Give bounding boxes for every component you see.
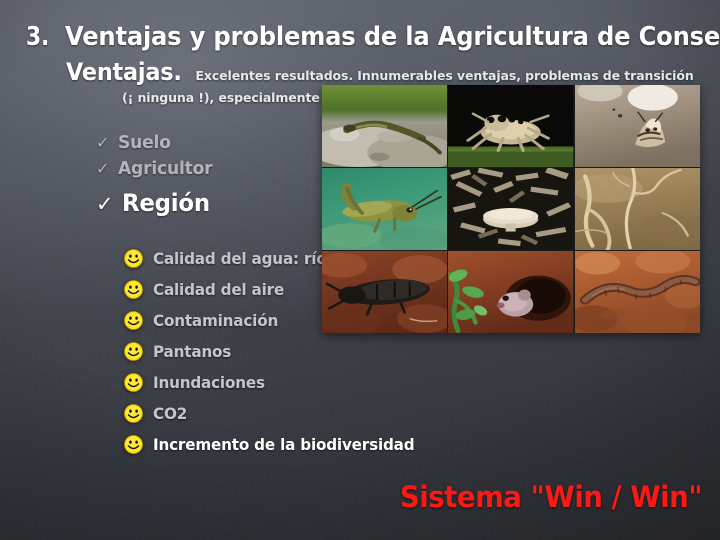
smiley-icon xyxy=(124,373,143,392)
photo-beetle-on-red-soil xyxy=(322,251,447,333)
smiley-icon xyxy=(124,435,143,454)
photo-earthworm-on-soil xyxy=(575,251,700,333)
smiley-label: CO2 xyxy=(153,404,187,423)
page-title: Ventajas y problemas de la Agricultura d… xyxy=(65,22,720,52)
smiley-label: Calidad del aire xyxy=(153,280,284,299)
title-number: 3. xyxy=(26,22,49,52)
footer-slogan: Sistema "Win / Win" xyxy=(400,480,702,514)
list-item-agricultor[interactable]: ✓ Agricultor xyxy=(96,156,218,182)
photo-spider-on-black xyxy=(448,85,573,167)
smiley-label: Calidad del agua: ríos xyxy=(153,249,335,268)
smiley-icon xyxy=(124,342,143,361)
photo-butterfly-on-ground xyxy=(575,85,700,167)
smiley-label: Contaminación xyxy=(153,311,278,330)
list-item-suelo[interactable]: ✓ Suelo xyxy=(96,130,218,156)
photo-collage[interactable] xyxy=(322,85,700,333)
smiley-icon xyxy=(124,249,143,268)
check-label: Región xyxy=(122,187,210,219)
list-item-pantanos[interactable]: Pantanos xyxy=(124,336,428,367)
list-item-inundaciones[interactable]: Inundaciones xyxy=(124,367,428,398)
list-item-biodiversidad[interactable]: Incremento de la biodiversidad xyxy=(124,429,428,460)
smiley-label: Inundaciones xyxy=(153,373,265,392)
photo-mushroom-on-mulch xyxy=(448,168,573,250)
photo-lizard-on-stone xyxy=(322,85,447,167)
subtitle-lead: Ventajas. xyxy=(66,58,182,86)
check-icon: ✓ xyxy=(96,194,113,215)
check-label: Agricultor xyxy=(118,156,212,182)
photo-grasshopper-on-green xyxy=(322,168,447,250)
check-icon: ✓ xyxy=(96,135,109,151)
smiley-icon xyxy=(124,404,143,423)
slide-title-row: 3. Ventajas y problemas de la Agricultur… xyxy=(26,22,706,52)
subtitle-line-1: Excelentes resultados. Innumerables vent… xyxy=(195,68,693,83)
smiley-label: Incremento de la biodiversidad xyxy=(153,435,414,454)
photo-rodent-in-burrow xyxy=(448,251,573,333)
smiley-icon xyxy=(124,280,143,299)
smiley-label: Pantanos xyxy=(153,342,231,361)
smiley-icon xyxy=(124,311,143,330)
check-icon: ✓ xyxy=(96,161,109,177)
check-list: ✓ Suelo ✓ Agricultor ✓ Región xyxy=(96,130,218,219)
list-item-region[interactable]: ✓ Región xyxy=(96,187,218,219)
list-item-co2[interactable]: CO2 xyxy=(124,398,428,429)
check-label: Suelo xyxy=(118,130,171,156)
photo-soil-root-channels xyxy=(575,168,700,250)
slide-canvas: 3. Ventajas y problemas de la Agricultur… xyxy=(0,0,720,540)
